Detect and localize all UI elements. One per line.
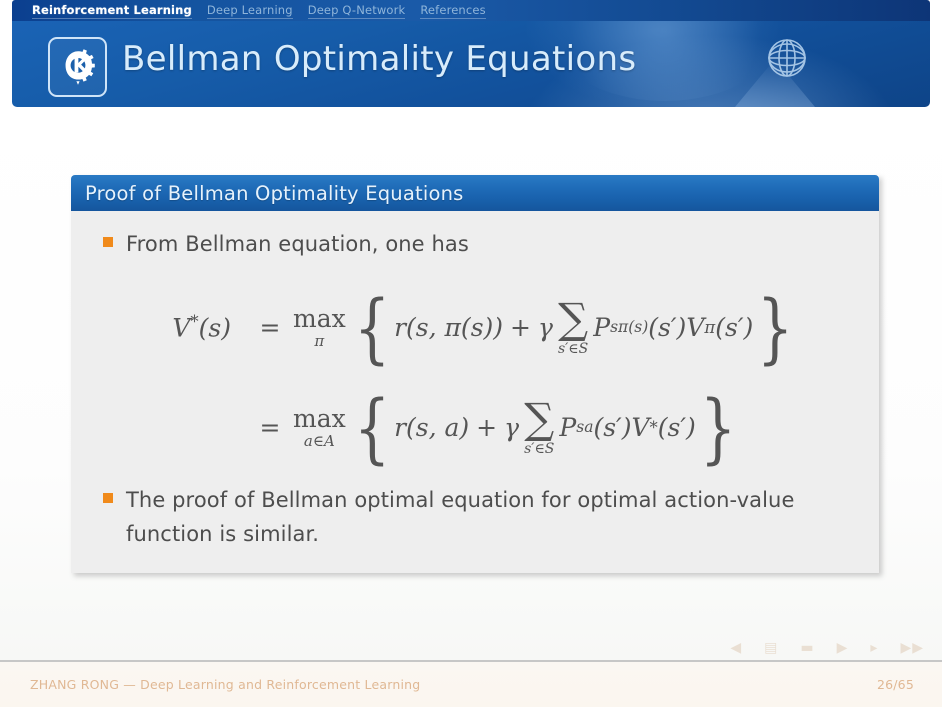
nav-symbol-section-icon[interactable]: ▸ <box>870 640 878 656</box>
left-page-margin <box>0 0 12 107</box>
probability-subscript-2: sa <box>576 418 593 436</box>
svg-text:K: K <box>72 54 89 78</box>
block-header: Proof of Bellman Optimality Equations <box>71 175 879 211</box>
bullet-square-icon <box>103 493 113 503</box>
nav-section-references[interactable]: References <box>420 3 485 19</box>
max-label: max <box>293 306 346 331</box>
reward-term-1: r(s, π(s)) <box>394 313 503 342</box>
max-operator-2: max a∈A <box>293 406 346 449</box>
block-body: From Bellman equation, one has V*(s) = m… <box>71 211 879 573</box>
plus-sign-2: + <box>476 413 497 442</box>
gamma-symbol-2: γ <box>504 413 519 442</box>
nav-symbol-next-slide-icon[interactable]: ▶ <box>837 640 849 656</box>
nav-symbol-prev-slide-icon[interactable]: ◀ <box>730 640 742 656</box>
block-title-text: Proof of Bellman Optimality Equations <box>85 182 464 205</box>
sigma-symbol-2: ∑ <box>524 398 554 440</box>
probability-P-1: P <box>593 313 610 342</box>
nav-symbol-frame-icon[interactable]: ▤ <box>764 640 778 656</box>
equation-lhs: V*(s) <box>97 312 247 342</box>
max-subscript: π <box>314 334 324 349</box>
slide-footer: ZHANG RONG — Deep Learning and Reinforce… <box>0 660 942 707</box>
value-superscript-2: * <box>650 418 658 437</box>
footer-page-number: 26/65 <box>877 677 914 692</box>
globe-icon <box>762 33 812 83</box>
value-V-2: V <box>631 413 649 442</box>
equation-group: V*(s) = max π { r(s, π(s)) + γ <box>97 277 853 477</box>
equation-line-1: V*(s) = max π { r(s, π(s)) + γ <box>97 277 853 377</box>
section-navbar: Reinforcement Learning Deep Learning Dee… <box>12 0 930 21</box>
nav-section-reinforcement-learning[interactable]: Reinforcement Learning <box>32 3 192 19</box>
probability-argument-2: (s′) <box>593 413 631 442</box>
lhs-star-superscript: * <box>190 312 198 331</box>
nav-section-deep-q-network[interactable]: Deep Q-Network <box>308 3 406 19</box>
probability-argument-1: (s′) <box>648 313 686 342</box>
equation-relation-1: = <box>247 313 293 342</box>
max-subscript-2: a∈A <box>304 434 335 449</box>
sum-limit: s′∈S <box>558 342 588 356</box>
kde-gear-k-icon: K <box>48 37 107 97</box>
equation-rhs-2: max a∈A { r(s, a) + γ ∑ s′∈S Psa(s′)V <box>293 398 740 456</box>
right-page-margin <box>930 0 942 107</box>
value-V-1: V <box>686 313 704 342</box>
bullet-text-from-bellman: From Bellman equation, one has <box>126 227 469 261</box>
list-item: From Bellman equation, one has <box>103 227 853 261</box>
value-argument-2: (s′) <box>658 413 696 442</box>
sum-limit-2: s′∈S <box>524 442 554 456</box>
plus-sign-1: + <box>510 313 531 342</box>
list-item: The proof of Bellman optimal equation fo… <box>103 483 803 551</box>
equation-relation-2: = <box>247 413 293 442</box>
equation-rhs-1: max π { r(s, π(s)) + γ ∑ s′∈S Psπ(s)( <box>293 298 798 356</box>
nav-symbol-subsection-icon[interactable]: ▬ <box>800 640 814 656</box>
footer-author-course: ZHANG RONG — Deep Learning and Reinforce… <box>30 677 420 692</box>
max-label-2: max <box>293 406 346 431</box>
reward-term-2: r(s, a) <box>394 413 469 442</box>
beamer-navigation-symbols[interactable]: ◀ ▤ ▬ ▶ ▸ ▶▶ <box>730 640 924 656</box>
page-title: Bellman Optimality Equations <box>122 39 636 79</box>
gamma-symbol-1: γ <box>538 313 553 342</box>
slide-root: Reinforcement Learning Deep Learning Dee… <box>0 0 942 707</box>
lhs-argument: (s) <box>199 313 231 342</box>
bullet-text-proof-similar: The proof of Bellman optimal equation fo… <box>126 483 803 551</box>
slide-header: Reinforcement Learning Deep Learning Dee… <box>12 0 930 107</box>
value-argument-1: (s′) <box>715 313 753 342</box>
sigma-symbol: ∑ <box>558 298 588 340</box>
lhs-V-symbol: V <box>172 313 190 342</box>
bullet-square-icon <box>103 237 113 247</box>
title-bar: K Bellman Optimality Equations <box>12 21 930 107</box>
summation-2: ∑ s′∈S <box>524 398 554 456</box>
summation-1: ∑ s′∈S <box>558 298 588 356</box>
probability-subscript-1: sπ(s) <box>610 318 648 336</box>
equation-line-2: = max a∈A { r(s, a) + γ ∑ <box>97 377 853 477</box>
value-superscript-1: π <box>704 318 715 337</box>
max-operator-1: max π <box>293 306 346 349</box>
nav-section-deep-learning[interactable]: Deep Learning <box>207 3 293 19</box>
slide-body: Proof of Bellman Optimality Equations Fr… <box>0 107 942 662</box>
content-block: Proof of Bellman Optimality Equations Fr… <box>71 175 879 573</box>
nav-symbol-end-icon[interactable]: ▶▶ <box>900 640 924 656</box>
probability-P-2: P <box>559 413 576 442</box>
